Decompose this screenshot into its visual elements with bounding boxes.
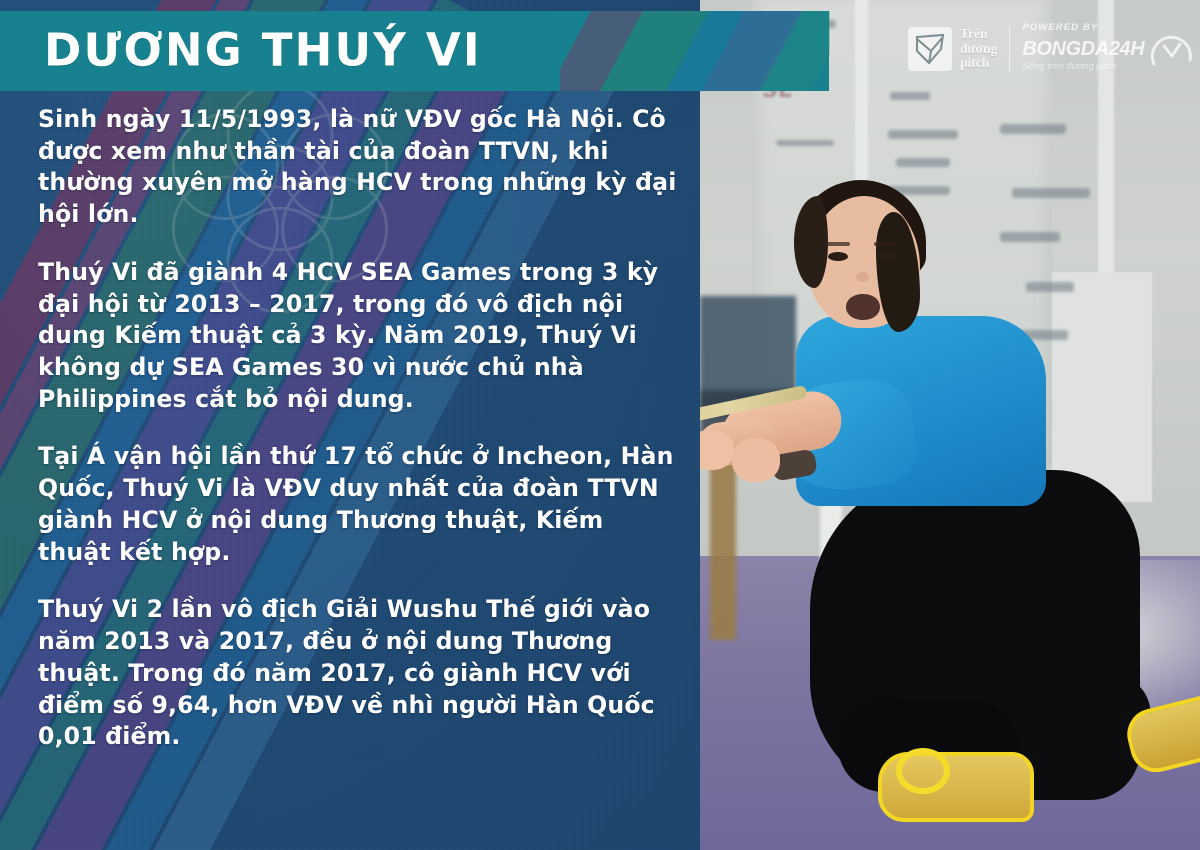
athlete-shoe-lace: [896, 748, 950, 794]
athlete-eye-right: [876, 252, 896, 261]
text-panel: Sinh ngày 11/5/1993, là nữ VĐV gốc Hà Nộ…: [0, 0, 700, 850]
infographic-card: Sinh ngày 11/5/1993, là nữ VĐV gốc Hà Nộ…: [0, 0, 1200, 850]
athlete-nose: [856, 272, 869, 282]
article-body: Sinh ngày 11/5/1993, là nữ VĐV gốc Hà Nộ…: [38, 104, 678, 753]
athlete-eye-left: [828, 252, 848, 261]
paragraph-1: Sinh ngày 11/5/1993, là nữ VĐV gốc Hà Nộ…: [38, 104, 678, 231]
title-banner: DƯƠNG THUÝ VI: [0, 11, 829, 91]
paragraph-3: Tại Á vận hội lần thứ 17 tổ chức ở Inche…: [38, 441, 678, 568]
athlete-eyebrow-left: [826, 242, 850, 246]
photo-board-scribble: [776, 140, 834, 146]
athlete-hand-front: [732, 438, 780, 482]
athlete-mouth: [846, 294, 880, 320]
athlete-photo: SE SE: [700, 0, 1200, 850]
photo-board-scribble: [1000, 232, 1060, 242]
photo-board-scribble: [1000, 124, 1066, 134]
photo-board-scribble: [890, 92, 930, 100]
paragraph-2: Thuý Vi đã giành 4 HCV SEA Games trong 3…: [38, 257, 678, 416]
photo-board-scribble: [1012, 188, 1090, 198]
photo-board-scribble: [888, 130, 958, 139]
photo-board-scribble: [1026, 282, 1074, 292]
photo-board-scribble: [896, 158, 950, 167]
title-banner-stripes: [560, 11, 830, 91]
paragraph-4: Thuý Vi 2 lần vô địch Giải Wushu Thế giớ…: [38, 594, 678, 753]
page-title: DƯƠNG THUÝ VI: [44, 23, 482, 76]
athlete-eyebrow-right: [874, 242, 898, 246]
photo-whiteboard-secondary: [1052, 272, 1152, 502]
